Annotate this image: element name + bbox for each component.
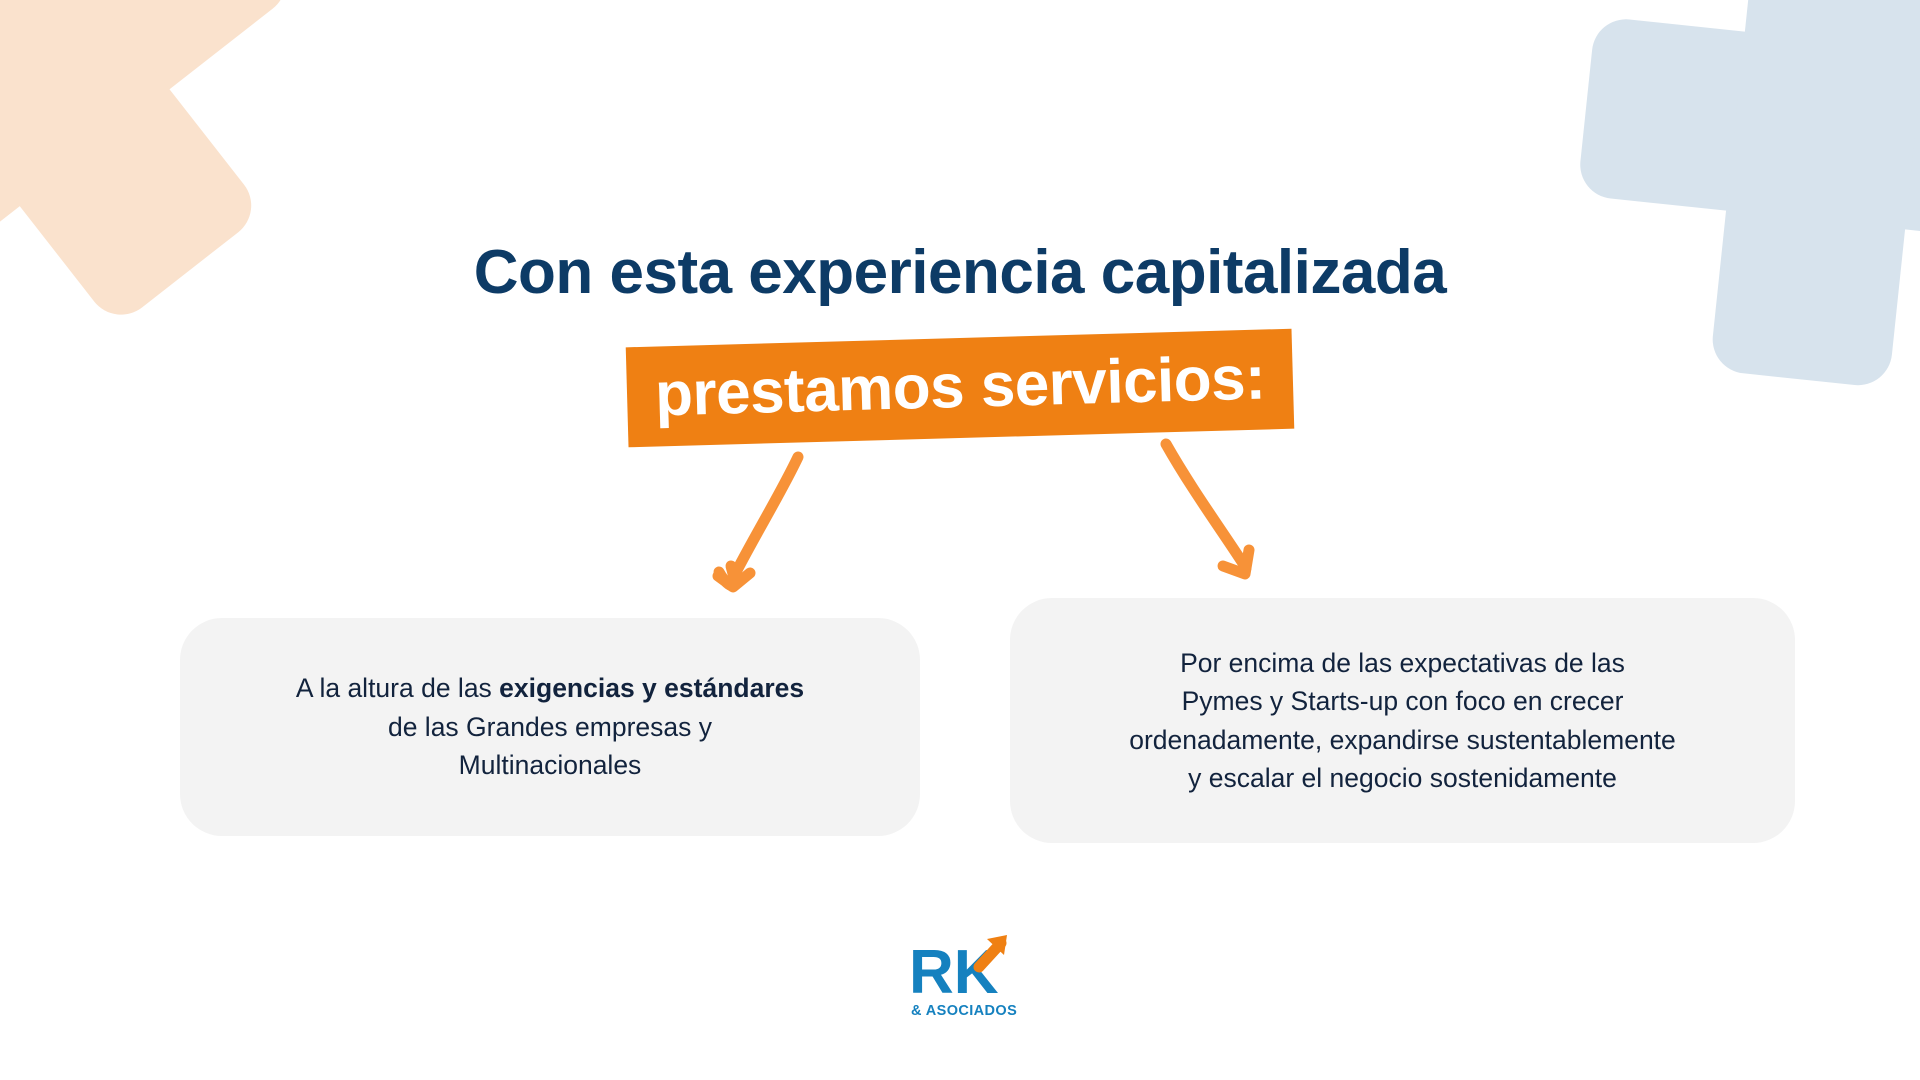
card-left-line2: de las Grandes empresas y [388, 712, 712, 742]
card-right-text: Por encima de las expectativas de las Py… [1129, 644, 1676, 798]
card-left-text: A la altura de las exigencias y estándar… [296, 669, 804, 784]
card-left-line1-prefix: A la altura de las [296, 673, 499, 703]
arrow-down-right-icon [1130, 430, 1310, 610]
card-right-line2: Pymes y Starts-up con foco en crecer [1182, 686, 1624, 716]
card-right-line3: ordenadamente, expandirse sustentablemen… [1129, 725, 1676, 755]
logo-tagline: & ASOCIADOS [911, 1003, 1017, 1019]
arrow-down-left-icon [700, 435, 880, 615]
highlight-band-container: prestamos servicios: [0, 338, 1920, 438]
headline-container: Con esta experiencia capitalizada [0, 240, 1920, 305]
logo-mark-text: RK [909, 938, 999, 1007]
card-right-line1: Por encima de las expectativas de las [1180, 648, 1625, 678]
card-pymes-startups: Por encima de las expectativas de las Py… [1010, 598, 1795, 843]
logo-rk-asociados: RK & ASOCIADOS [905, 925, 1025, 1020]
card-large-companies: A la altura de las exigencias y estándar… [180, 618, 920, 836]
card-right-line4: y escalar el negocio sostenidamente [1188, 763, 1617, 793]
slide-canvas: Con esta experiencia capitalizada presta… [0, 0, 1920, 1080]
card-left-line1-bold: exigencias y estándares [499, 673, 804, 703]
page-title: Con esta experiencia capitalizada [0, 240, 1920, 305]
card-left-line3: Multinacionales [459, 750, 642, 780]
